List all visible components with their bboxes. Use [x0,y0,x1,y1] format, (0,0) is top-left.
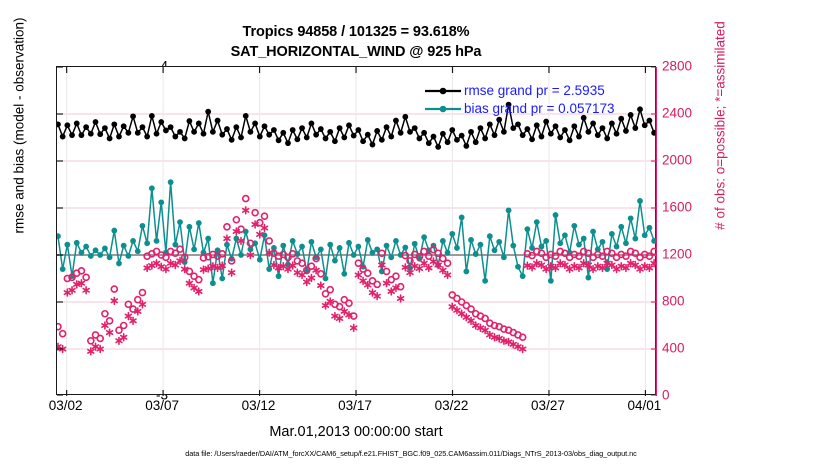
data-point-possible [57,324,61,330]
x-tick-label: 03/22 [416,399,486,413]
data-point [562,127,568,133]
data-point [74,240,80,246]
data-point-assimilated [111,297,117,304]
data-point [280,130,286,136]
data-point [370,250,376,256]
data-point [417,136,423,142]
data-point [365,132,371,138]
data-point [346,240,352,246]
data-point [248,129,254,135]
data-point [360,138,366,144]
data-point [398,130,404,136]
x-tick-label: 03/27 [513,399,583,413]
data-point-possible [107,318,113,324]
data-point [473,139,479,145]
data-point-possible [60,331,66,337]
data-point [581,236,587,242]
data-point [478,125,484,131]
data-point-possible [374,281,380,287]
data-point [632,125,638,131]
data-point [374,128,380,134]
data-point-possible [266,238,272,244]
legend: rmse grand pr = 2.5935bias grand pr = 0.… [424,82,664,118]
data-point [440,131,446,137]
data-point [637,198,643,204]
data-point [515,264,521,270]
data-point [64,122,70,128]
data-point [355,127,361,133]
data-point [600,239,606,245]
data-point [299,244,305,250]
data-point [196,220,202,226]
data-point [402,245,408,251]
data-point [445,250,451,256]
x-tick-label: 03/02 [31,399,101,413]
data-point [562,232,568,238]
data-point [229,137,235,143]
data-point [473,251,479,257]
data-point [384,243,390,249]
data-point [121,123,127,129]
data-point [341,135,347,141]
data-point [79,250,85,256]
data-point [585,275,591,281]
data-point [187,118,193,124]
data-point [83,124,89,130]
data-point [219,132,225,138]
data-point [614,131,620,137]
data-point [548,131,554,137]
data-point [276,137,282,143]
data-point [421,234,427,240]
data-point [280,243,286,249]
data-point [435,144,441,150]
data-point [346,122,352,128]
legend-marker-icon [424,102,462,116]
data-point [524,126,530,132]
data-point [107,136,113,142]
data-point [407,129,413,135]
data-point-assimilated [224,235,230,242]
data-point [182,136,188,142]
data-point-possible [88,338,94,344]
data-point [313,132,319,138]
data-point [172,134,178,140]
data-point [585,129,591,135]
data-point-possible [111,286,117,292]
data-point [449,127,455,133]
data-point [341,271,347,277]
data-point [262,123,268,129]
data-point [628,215,634,221]
data-point-possible [224,224,230,230]
data-point [140,223,146,229]
data-point [205,236,211,242]
data-point-possible [97,335,103,341]
data-point [351,252,357,258]
data-point [88,131,94,137]
data-point [393,118,399,124]
data-point [64,242,70,248]
data-point [125,130,131,136]
data-point [548,278,554,284]
data-point-possible [139,290,145,296]
data-point-possible [121,323,127,329]
data-point [191,129,197,135]
data-point [402,114,408,120]
legend-label: bias grand pr = 0.057173 [464,102,615,116]
data-point [149,113,155,119]
data-point [158,199,164,205]
data-point [553,123,559,129]
data-point [445,139,451,145]
data-point [463,269,469,275]
data-point [304,135,310,141]
data-point [370,142,376,148]
data-point [557,240,563,246]
data-point [210,129,216,135]
data-point [482,278,488,284]
data-point [543,119,549,125]
data-point [632,236,638,242]
x-tick-label: 03/12 [224,399,294,413]
data-point [492,247,498,253]
data-point [224,126,230,132]
data-point [412,241,418,247]
y-axis-label-right: # of obs: o=possible; *=assimilated [713,0,728,291]
data-point [642,122,648,128]
data-point [576,134,582,140]
data-point [57,233,61,239]
data-point [524,226,530,232]
data-point-assimilated [407,269,413,276]
data-point-assimilated [262,225,268,232]
data-point [215,118,221,124]
data-point [83,244,89,250]
x-tick-label: 04/01 [609,399,679,413]
data-point [111,228,117,234]
data-point-possible [346,300,352,306]
data-point [590,229,596,235]
data-point [177,129,183,135]
data-point [623,240,629,246]
data-point-possible [393,273,399,279]
data-point [609,231,615,237]
data-point [478,242,484,248]
data-point [299,125,305,131]
data-point [309,239,315,245]
data-point [290,238,296,244]
data-point [135,248,141,254]
data-point [149,185,155,191]
data-point [440,238,446,244]
data-point [163,128,169,134]
y-axis-label-left: rmse and bias (model - observation) [12,0,27,291]
data-point-assimilated [398,295,404,302]
data-point [97,252,103,258]
data-point [158,119,164,125]
y-tick-label-right: 1600 [662,200,714,214]
data-point-assimilated [107,329,113,336]
data-point [332,138,338,144]
data-point-possible [83,274,89,280]
data-point [276,273,282,279]
data-point [590,121,596,127]
data-point [618,224,624,230]
data-point [468,129,474,135]
data-point [318,126,324,132]
data-point [154,131,160,137]
data-point-assimilated [229,269,235,276]
data-point [116,134,122,140]
data-point [97,131,103,137]
data-point [309,121,315,127]
data-point [210,280,216,286]
data-point [102,125,108,131]
data-point [74,121,80,127]
data-point-assimilated [83,287,89,294]
data-point [426,140,432,146]
data-point [557,135,563,141]
data-point [421,130,427,136]
y-tick-label-right: 2400 [662,106,714,120]
y-tick-label-right: 2000 [662,153,714,167]
data-point [154,238,160,244]
data-point [539,244,545,250]
data-point [201,131,207,137]
data-point [463,143,469,149]
data-point [501,254,507,260]
data-point [529,136,535,142]
data-point [88,253,94,259]
data-point [337,245,343,251]
data-point [454,137,460,143]
data-point [323,136,329,142]
legend-label: rmse grand pr = 2.5935 [464,84,605,98]
data-point [459,133,465,139]
data-point [125,253,131,259]
chart-title-line1: Tropics 94858 / 101325 = 93.618% [56,22,656,42]
legend-item[interactable]: bias grand pr = 0.057173 [424,100,664,118]
data-point [567,137,573,143]
data-point [506,207,512,213]
data-point [520,273,526,279]
data-point-possible [243,196,249,202]
chart-title: Tropics 94858 / 101325 = 93.618% SAT_HOR… [56,22,656,62]
data-point [482,136,488,142]
legend-marker-icon [424,84,462,98]
data-point [69,132,75,138]
data-point [111,121,117,127]
data-point [487,233,493,239]
data-point [412,125,418,131]
data-point [384,124,390,130]
data-point-possible [365,270,371,276]
data-point [290,127,296,133]
data-point [285,140,291,146]
data-point [623,128,629,134]
data-point [318,246,324,252]
data-point [614,244,620,250]
data-point [647,118,653,124]
data-point [379,137,385,143]
data-point [553,212,559,218]
y-tick-label-right: 2800 [662,59,714,73]
data-point [257,257,263,263]
data-point [351,133,357,139]
data-point [454,245,460,251]
data-point-possible [252,210,258,216]
data-point [327,129,333,135]
data-point [543,238,549,244]
data-point [501,129,507,135]
data-point [93,119,99,125]
data-point [647,225,653,231]
data-point [205,109,211,115]
data-point [393,238,399,244]
data-point [93,247,99,253]
data-point [604,136,610,142]
data-point [487,121,493,127]
data-point [177,219,183,225]
data-point [510,243,516,249]
data-point [233,124,239,130]
data-point [238,135,244,141]
data-point [365,237,371,243]
data-point [609,121,615,127]
data-point [196,121,202,127]
series-obs_assimilated [57,207,657,355]
y-tick-label-right: 400 [662,341,714,355]
x-axis-label: Mar.01,2013 00:00:00 start [56,424,656,440]
data-point [271,127,277,133]
legend-item[interactable]: rmse grand pr = 2.5935 [424,82,664,100]
x-tick-label: 03/07 [127,399,197,413]
data-point-assimilated [318,282,324,289]
data-point-possible [233,217,239,223]
data-point [57,121,61,127]
data-point [144,240,150,246]
data-point [121,243,127,249]
data-point [187,224,193,230]
data-point [388,134,394,140]
data-point [642,232,648,238]
data-point [355,244,361,250]
data-point-possible [262,213,268,219]
data-point [327,242,333,248]
data-point [600,125,606,131]
data-point [130,238,136,244]
data-point [576,242,582,248]
data-point [337,125,343,131]
data-point [60,134,66,140]
data-point [60,266,66,272]
data-point [510,125,516,131]
data-point [496,239,502,245]
data-point [534,219,540,225]
data-point [252,121,258,127]
data-point [571,123,577,129]
data-point [116,261,122,267]
data-point [168,179,174,185]
data-point [102,246,108,252]
figure-canvas: Tropics 94858 / 101325 = 93.618% SAT_HOR… [0,0,830,470]
data-point [539,134,545,140]
data-point [571,223,577,229]
data-point [515,121,521,127]
data-point [219,276,225,282]
y-tick-label-right: 800 [662,294,714,308]
data-point [534,122,540,128]
x-tick-label: 03/17 [320,399,390,413]
data-point [388,254,394,260]
data-point [468,237,474,243]
data-point [130,113,136,119]
data-point [294,136,300,142]
data-point [449,231,455,237]
y-tick-label-right: 1200 [662,247,714,261]
data-point [332,258,338,264]
data-point [520,132,526,138]
data-point [431,134,437,140]
data-point [243,113,249,119]
data-point-possible [196,277,202,283]
data-point-possible [445,260,451,266]
data-point [144,134,150,140]
data-point-possible [177,246,183,252]
data-file-note: data file: /Users/raeder/DAI/ATM_forcXX/… [56,449,766,458]
data-point [459,215,465,221]
data-point [492,132,498,138]
data-point [595,132,601,138]
data-point [257,134,263,140]
data-point [168,124,174,130]
data-point [266,132,272,138]
data-point [238,252,244,258]
data-point [140,124,146,130]
data-point [107,254,113,260]
data-point [191,246,197,252]
data-point [79,132,85,138]
data-point-possible [102,311,108,317]
data-point-possible [327,287,333,293]
data-point [135,130,141,136]
